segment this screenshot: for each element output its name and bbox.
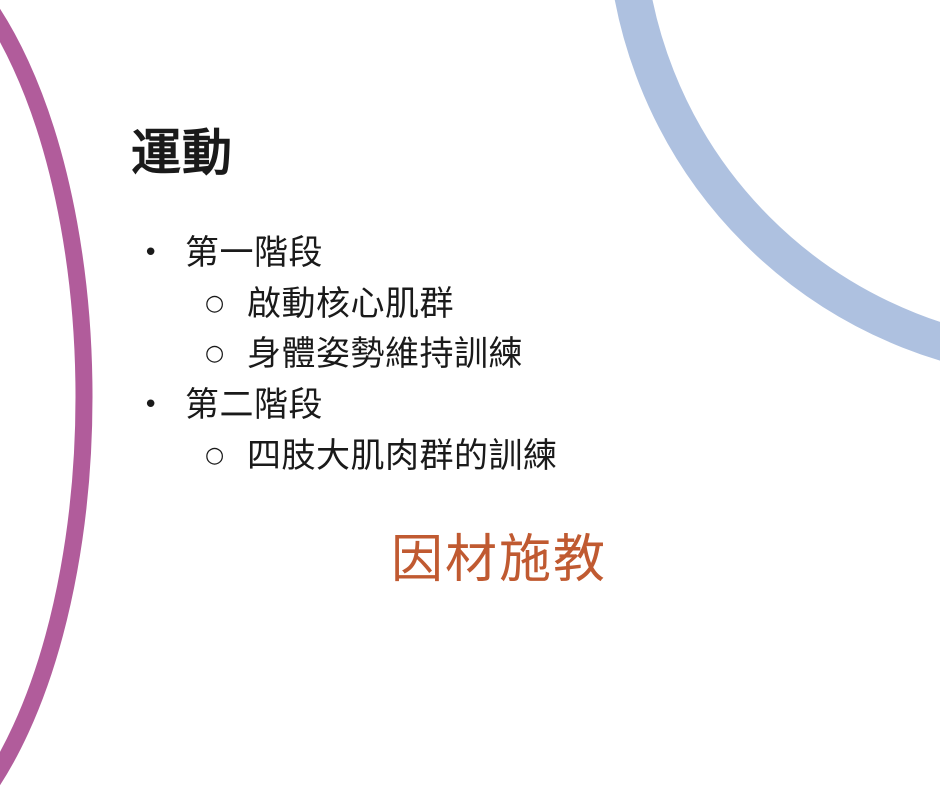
bullet-marker-level2: ○ bbox=[205, 279, 247, 330]
list-item-label: 第一階段 bbox=[185, 228, 323, 278]
page-title: 運動 bbox=[131, 126, 233, 180]
list-item-label: 身體姿勢維持訓練 bbox=[247, 329, 523, 379]
list-item: • 第一階段 bbox=[143, 228, 843, 279]
list-item: ○ 身體姿勢維持訓練 bbox=[205, 329, 843, 380]
emphasis-text: 因材施教 bbox=[391, 528, 607, 593]
list-item-label: 第二階段 bbox=[185, 380, 323, 430]
list-item: ○ 啟動核心肌群 bbox=[205, 279, 843, 330]
slide-canvas: 運動 • 第一階段 ○ 啟動核心肌群 ○ 身體姿勢維持訓練 • 第二階段 ○ 四… bbox=[0, 0, 940, 788]
list-item-label: 四肢大肌肉群的訓練 bbox=[247, 431, 558, 481]
bullet-marker-level1: • bbox=[143, 228, 185, 279]
bullet-list: • 第一階段 ○ 啟動核心肌群 ○ 身體姿勢維持訓練 • 第二階段 ○ 四肢大肌… bbox=[143, 228, 843, 481]
list-item: • 第二階段 bbox=[143, 380, 843, 431]
bullet-marker-level2: ○ bbox=[205, 329, 247, 380]
bullet-marker-level2: ○ bbox=[205, 431, 247, 482]
bullet-marker-level1: • bbox=[143, 380, 185, 431]
list-item: ○ 四肢大肌肉群的訓練 bbox=[205, 431, 843, 482]
list-item-label: 啟動核心肌群 bbox=[247, 279, 454, 329]
slide-content: 運動 • 第一階段 ○ 啟動核心肌群 ○ 身體姿勢維持訓練 • 第二階段 ○ 四… bbox=[0, 0, 940, 788]
